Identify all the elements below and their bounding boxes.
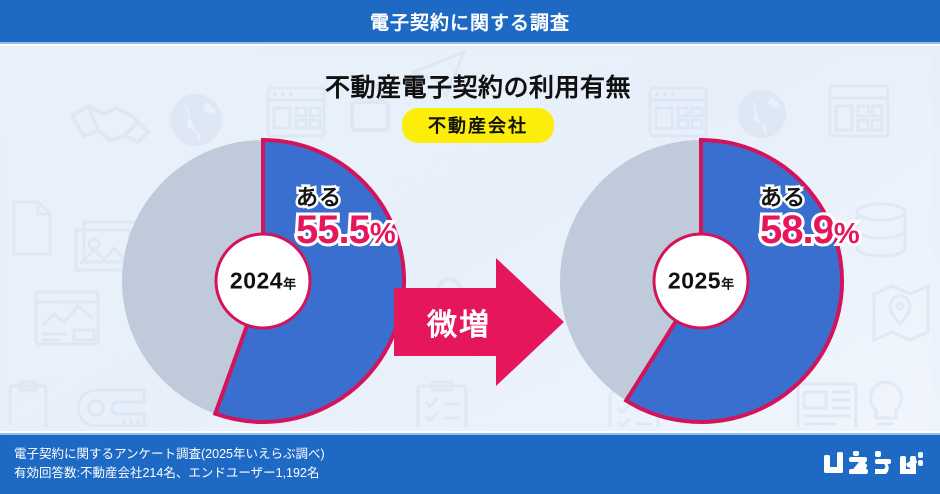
document-icon — [8, 200, 54, 256]
ielove-logo-icon — [822, 450, 926, 480]
callout-2024-value: 55.5% — [296, 209, 395, 251]
footer-source-text: 電子契約に関するアンケート調査(2025年いえらぶ調べ) 有効回答数:不動産会社… — [14, 445, 325, 484]
donut-2024-year: 2024 — [230, 268, 283, 294]
page-footer: 電子契約に関するアンケート調査(2025年いえらぶ調べ) 有効回答数:不動産会社… — [0, 433, 940, 494]
chart-badge-wrap: 不動産会社 — [8, 108, 932, 143]
callout-2025-percent: % — [834, 218, 859, 250]
callout-2025-number: 58.9 — [760, 208, 834, 252]
trend-arrow: 微増 — [394, 258, 564, 386]
dashboard-chart-icon — [34, 290, 100, 346]
donut-chart-2025: 2025年 — [556, 136, 846, 426]
checklist-icon — [416, 380, 468, 427]
callout-2024-answer: ある — [296, 186, 395, 209]
chart-panel: 不動産電子契約の利用有無 不動産会社 2024年 n=337 — [0, 46, 940, 431]
donut-2025-year-suffix: 年 — [721, 277, 734, 292]
callout-2024-number: 55.5 — [296, 208, 370, 252]
infographic-root: 電子契約に関する調査 — [0, 0, 940, 494]
chart-title: 不動産電子契約の利用有無 — [8, 68, 932, 104]
page-header: 電子契約に関する調査 — [0, 0, 940, 44]
trend-arrow-label: 微増 — [400, 300, 518, 344]
clipboard-icon — [8, 380, 48, 427]
footer-line-1: 電子契約に関するアンケート調査(2025年いえらぶ調べ) — [14, 445, 325, 464]
donut-2024-year-suffix: 年 — [283, 277, 296, 292]
donut-2025-center-label: 2025年 — [668, 268, 734, 295]
page-title: 電子契約に関する調査 — [370, 8, 570, 35]
brand-logo — [822, 449, 926, 481]
callout-2025-answer: ある — [760, 186, 859, 209]
donut-chart-2024: 2024年 — [118, 136, 408, 426]
database-icon — [854, 202, 908, 260]
segment-badge: 不動産会社 — [402, 108, 554, 143]
callout-2024: ある 55.5% — [296, 186, 395, 251]
callout-2025-value: 58.9% — [760, 209, 859, 251]
map-pin-icon — [872, 282, 930, 344]
donut-2024-center-label: 2024年 — [230, 268, 296, 295]
donut-2025-year: 2025 — [668, 268, 721, 294]
callout-2025: ある 58.9% — [760, 186, 859, 251]
chart-panel-inner: 不動産電子契約の利用有無 不動産会社 2024年 n=337 — [8, 50, 932, 427]
callout-2024-percent: % — [370, 218, 395, 250]
footer-line-2: 有効回答数:不動産会社214名、エンドユーザー1,192名 — [14, 464, 325, 483]
lightbulb-icon — [864, 380, 908, 427]
